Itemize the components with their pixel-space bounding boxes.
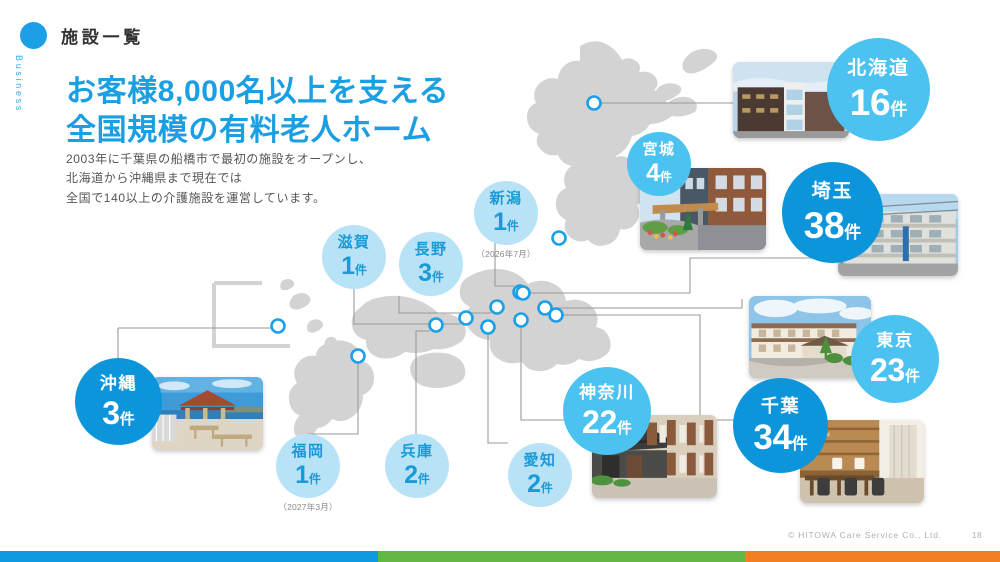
bottom-color-bar: [0, 551, 1000, 562]
prefecture-bubble[interactable]: 沖縄3件: [75, 358, 162, 445]
facility-count-line: 2件: [404, 463, 430, 488]
facility-count-line: 1件: [341, 254, 367, 279]
count-unit: 件: [792, 437, 808, 453]
count-unit: 件: [432, 271, 444, 283]
section-title: 施設一覧: [61, 23, 144, 48]
headline-line-1: お客様8,000名以上を支える: [66, 72, 536, 111]
prefecture-bubble[interactable]: 長野3件: [399, 232, 463, 296]
prefecture-bubble[interactable]: 東京23件: [851, 315, 939, 403]
facility-count-line: 34件: [753, 420, 807, 455]
prefecture-name: 宮城: [642, 142, 675, 157]
prefecture-name: 新潟: [489, 191, 522, 206]
prefecture-name: 埼玉: [812, 182, 854, 201]
page-number: 18: [972, 530, 982, 540]
prefecture-bubble[interactable]: 福岡1件: [276, 434, 340, 498]
bar-orange: [745, 551, 1000, 562]
slide-canvas: 施設一覧 Business お客様8,000名以上を支える 全国規模の有料老人ホ…: [0, 0, 1000, 562]
prefecture-name: 福岡: [291, 444, 324, 459]
prefecture-name: 千葉: [761, 397, 801, 415]
count-unit: 件: [660, 171, 672, 183]
facility-count: 2: [527, 472, 541, 497]
facility-count-line: 22件: [582, 406, 632, 438]
facility-count: 23: [870, 354, 905, 386]
page-title: お客様8,000名以上を支える 全国規模の有料老人ホーム: [66, 72, 536, 150]
vertical-section-label: Business: [14, 55, 24, 113]
prefecture-bubble[interactable]: 北海道16件: [827, 38, 930, 141]
prefecture-bubble[interactable]: 愛知2件: [508, 443, 572, 507]
count-unit: 件: [120, 412, 135, 427]
count-unit: 件: [905, 369, 920, 384]
facility-count-line: 38件: [804, 207, 861, 244]
facility-count-line: 2件: [527, 472, 553, 497]
copyright-text: © HITOWA Care Service Co., Ltd.: [788, 530, 942, 540]
facility-count-line: 1件: [295, 463, 321, 488]
prefecture-name: 東京: [876, 332, 913, 349]
prefecture-name: 神奈川: [579, 384, 635, 401]
prefecture-name: 沖縄: [100, 375, 137, 392]
lede-line-2: 北海道から沖縄県まで現在では: [66, 169, 486, 188]
count-unit: 件: [844, 224, 861, 241]
opening-date-note: （2026年7月）: [464, 248, 548, 260]
count-unit: 件: [617, 421, 632, 436]
facility-count: 2: [404, 463, 418, 488]
facility-count-line: 16件: [850, 84, 907, 121]
count-unit: 件: [355, 264, 367, 276]
prefecture-name: 兵庫: [400, 444, 433, 459]
prefecture-name: 北海道: [847, 59, 910, 78]
prefecture-bubble[interactable]: 神奈川22件: [563, 367, 651, 455]
facility-count-line: 4件: [646, 161, 672, 186]
prefecture-name: 長野: [414, 242, 447, 257]
prefecture-bubble[interactable]: 埼玉38件: [782, 162, 883, 263]
count-unit: 件: [309, 473, 321, 485]
count-unit: 件: [507, 220, 519, 232]
lede-line-1: 2003年に千葉県の船橋市で最初の施設をオープンし、: [66, 150, 486, 169]
facility-count-line: 1件: [493, 210, 519, 235]
facility-count: 4: [646, 161, 660, 186]
count-unit: 件: [890, 101, 907, 118]
prefecture-bubble[interactable]: 滋賀1件: [322, 225, 386, 289]
bar-green: [378, 551, 745, 562]
prefecture-bubble[interactable]: 千葉34件: [733, 378, 828, 473]
lede-line-3: 全国で140以上の介護施設を運営しています。: [66, 189, 486, 208]
bar-blue: [0, 551, 378, 562]
page-description: 2003年に千葉県の船橋市で最初の施設をオープンし、 北海道から沖縄県まで現在で…: [66, 150, 486, 208]
opening-date-note: （2027年3月）: [266, 501, 350, 513]
facility-count: 1: [295, 463, 309, 488]
facility-count-line: 23件: [870, 354, 920, 386]
facility-count: 3: [418, 261, 432, 286]
facility-count: 1: [341, 254, 355, 279]
headline-line-2: 全国規模の有料老人ホーム: [66, 111, 536, 150]
facility-count-line: 3件: [102, 397, 135, 429]
facility-photo-okinawa: [152, 377, 263, 450]
prefecture-bubble[interactable]: 宮城4件: [627, 132, 691, 196]
facility-count: 22: [582, 406, 617, 438]
count-unit: 件: [418, 473, 430, 485]
facility-count: 16: [850, 84, 890, 121]
prefecture-bubble[interactable]: 兵庫2件: [385, 434, 449, 498]
section-eyebrow: 施設一覧: [20, 22, 144, 49]
bullet-dot-icon: [20, 22, 47, 49]
prefecture-name: 滋賀: [337, 235, 370, 250]
prefecture-name: 愛知: [523, 453, 556, 468]
facility-count: 3: [102, 397, 119, 429]
facility-count: 34: [753, 420, 791, 455]
count-unit: 件: [541, 482, 553, 494]
facility-count: 38: [804, 207, 844, 244]
facility-count: 1: [493, 210, 507, 235]
facility-count-line: 3件: [418, 261, 444, 286]
prefecture-bubble[interactable]: 新潟1件: [474, 181, 538, 245]
